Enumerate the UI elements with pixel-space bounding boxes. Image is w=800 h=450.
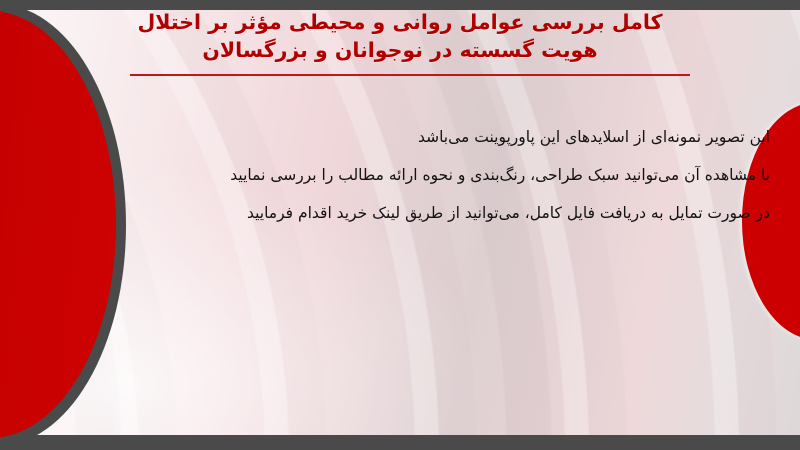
slide-canvas: کامل بررسی عوامل روانی و محیطی مؤثر بر ا… (0, 0, 800, 450)
slide-body: این تصویر نمونه‌ای از اسلایدهای این پاور… (30, 118, 770, 232)
slide-title: کامل بررسی عوامل روانی و محیطی مؤثر بر ا… (40, 8, 760, 64)
slide-title-underline (130, 74, 690, 76)
slide-body-line-2: با مشاهده آن می‌توانید سبک طراحی، رنگ‌بن… (30, 156, 770, 194)
slide-title-line-2: هویت گسسته در نوجوانان و بزرگسالان (40, 36, 760, 64)
slide-body-line-3: در صورت تمایل به دریافت فایل کامل، می‌تو… (30, 194, 770, 232)
slide-title-line-1: کامل بررسی عوامل روانی و محیطی مؤثر بر ا… (40, 8, 760, 36)
slide-body-line-1: این تصویر نمونه‌ای از اسلایدهای این پاور… (30, 118, 770, 156)
slide-text-layer: کامل بررسی عوامل روانی و محیطی مؤثر بر ا… (0, 0, 800, 450)
